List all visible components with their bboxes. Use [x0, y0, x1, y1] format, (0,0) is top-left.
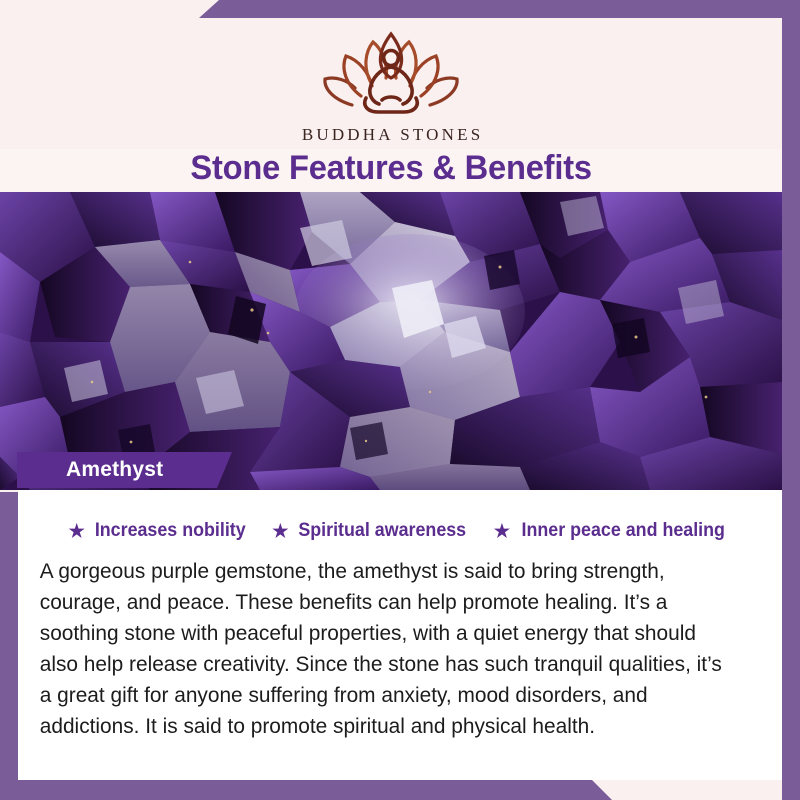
benefit-item: ★ Spiritual awareness: [272, 520, 472, 542]
benefit-item: ★ Inner peace and healing: [494, 520, 732, 542]
content-panel: ★ Increases nobility ★ Spiritual awarene…: [18, 490, 782, 780]
lotus-meditating-figure-icon: [316, 26, 466, 123]
frame-top-band: [0, 0, 800, 18]
page-title: Stone Features & Benefits: [190, 149, 591, 188]
benefits-list: ★ Increases nobility ★ Spiritual awarene…: [32, 490, 768, 542]
benefit-label: Spiritual awareness: [299, 520, 467, 542]
frame-bottom-band: [0, 780, 800, 800]
star-icon: ★: [272, 522, 288, 540]
star-icon: ★: [494, 522, 510, 540]
stone-name: Amethyst: [66, 458, 163, 482]
stone-description: A gorgeous purple gemstone, the amethyst…: [32, 556, 746, 742]
frame-left-band: [0, 492, 18, 800]
benefit-label: Increases nobility: [95, 520, 246, 542]
star-icon: ★: [69, 522, 85, 540]
brand-logo: BUDDHA STONES: [299, 26, 484, 145]
amethyst-crystal-cluster-photo: [0, 192, 782, 490]
header: BUDDHA STONES Stone Features & Benefits: [0, 18, 782, 192]
stone-name-banner: Amethyst: [17, 452, 232, 488]
title-bar: Stone Features & Benefits: [0, 149, 782, 192]
benefit-item: ★ Increases nobility: [69, 520, 251, 542]
stone-features-infographic: BUDDHA STONES Stone Features & Benefits: [0, 0, 800, 800]
frame-right-band: [782, 0, 800, 800]
benefit-label: Inner peace and healing: [521, 520, 724, 542]
brand-name: BUDDHA STONES: [299, 125, 484, 145]
